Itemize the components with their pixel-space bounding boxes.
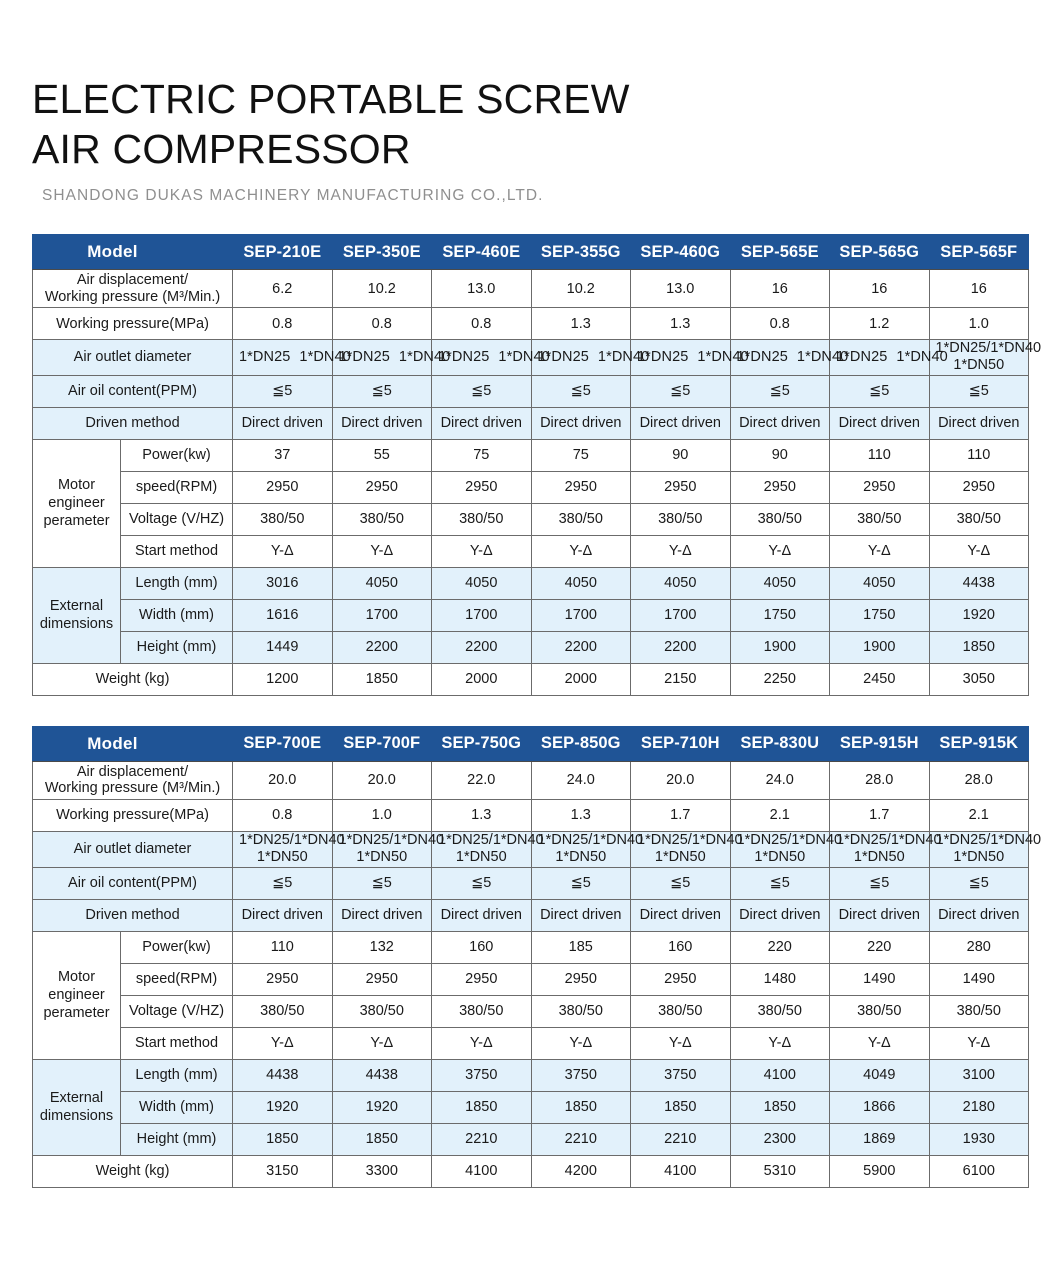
cell-air-oil-content: ≦5 — [631, 867, 731, 899]
cell-air-outlet-diameter: 1*DN25/1*DN401*DN50 — [531, 831, 631, 867]
header-model-SEP-850G: SEP-850G — [531, 726, 631, 761]
cell-start-method: Υ-Δ — [432, 535, 532, 567]
cell-start-method: Υ-Δ — [631, 1027, 731, 1059]
cell-width: 1866 — [830, 1091, 930, 1123]
cell-air-outlet-diameter: 1*DN251*DN40 — [730, 340, 830, 376]
cell-power: 110 — [929, 439, 1029, 471]
row-start-method: Start methodΥ-ΔΥ-ΔΥ-ΔΥ-ΔΥ-ΔΥ-ΔΥ-ΔΥ-Δ — [33, 535, 1029, 567]
cell-driven-method: Direct driven — [531, 407, 631, 439]
cell-speed: 2950 — [432, 963, 532, 995]
cell-driven-method: Direct driven — [432, 407, 532, 439]
cell-air-oil-content: ≦5 — [929, 867, 1029, 899]
row-speed: speed(RPM)295029502950295029501480149014… — [33, 963, 1029, 995]
cell-width: 1616 — [233, 599, 333, 631]
outlet-line-2: 1*DN50 — [936, 849, 1023, 866]
cell-height: 1869 — [830, 1123, 930, 1155]
cell-air-oil-content: ≦5 — [332, 867, 432, 899]
cell-driven-method: Direct driven — [332, 899, 432, 931]
cell-air-displacement: 6.2 — [233, 270, 333, 308]
outlet-line-2: 1*DN50 — [637, 849, 724, 866]
cell-air-displacement: 24.0 — [730, 761, 830, 799]
cell-length: 3100 — [929, 1059, 1029, 1091]
header-model-SEP-700E: SEP-700E — [233, 726, 333, 761]
label-start-method: Start method — [121, 1027, 233, 1059]
cell-weight: 5310 — [730, 1155, 830, 1187]
cell-voltage: 380/50 — [631, 995, 731, 1027]
cell-weight: 4200 — [531, 1155, 631, 1187]
cell-driven-method: Direct driven — [929, 407, 1029, 439]
cell-speed: 1490 — [929, 963, 1029, 995]
row-air-outlet-diameter: Air outlet diameter1*DN251*DN401*DN251*D… — [33, 340, 1029, 376]
cell-power: 160 — [631, 931, 731, 963]
cell-voltage: 380/50 — [730, 503, 830, 535]
cell-height: 2200 — [531, 631, 631, 663]
cell-air-oil-content: ≦5 — [332, 375, 432, 407]
cell-weight: 2000 — [432, 663, 532, 695]
cell-power: 37 — [233, 439, 333, 471]
cell-working-pressure: 1.7 — [830, 799, 930, 831]
row-weight: Weight (kg)31503300410042004100531059006… — [33, 1155, 1029, 1187]
cell-voltage: 380/50 — [432, 503, 532, 535]
cell-voltage: 380/50 — [830, 995, 930, 1027]
cell-working-pressure: 1.0 — [929, 308, 1029, 340]
cell-power: 110 — [830, 439, 930, 471]
cell-voltage: 380/50 — [233, 503, 333, 535]
cell-air-displacement: 28.0 — [830, 761, 930, 799]
label-power: Power(kw) — [121, 439, 233, 471]
cell-voltage: 380/50 — [830, 503, 930, 535]
cell-speed: 2950 — [830, 471, 930, 503]
cell-speed: 2950 — [233, 963, 333, 995]
outlet-line-1: 1*DN25/1*DN40 — [936, 340, 1023, 357]
row-voltage: Voltage (V/HZ)380/50380/50380/50380/5038… — [33, 995, 1029, 1027]
label-voltage: Voltage (V/HZ) — [121, 995, 233, 1027]
cell-height: 1930 — [929, 1123, 1029, 1155]
cell-working-pressure: 1.2 — [830, 308, 930, 340]
cell-length: 3016 — [233, 567, 333, 599]
cell-speed: 2950 — [531, 963, 631, 995]
cell-weight: 4100 — [432, 1155, 532, 1187]
cell-air-displacement: 20.0 — [332, 761, 432, 799]
table-header-row: ModelSEP-700ESEP-700FSEP-750GSEP-850GSEP… — [33, 726, 1029, 761]
cell-width: 1700 — [332, 599, 432, 631]
header-model-SEP-565F: SEP-565F — [929, 235, 1029, 270]
cell-height: 2210 — [531, 1123, 631, 1155]
label-width: Width (mm) — [121, 1091, 233, 1123]
cell-length: 4050 — [531, 567, 631, 599]
cell-working-pressure: 1.3 — [432, 799, 532, 831]
cell-power: 90 — [730, 439, 830, 471]
cell-voltage: 380/50 — [730, 995, 830, 1027]
cell-driven-method: Direct driven — [830, 899, 930, 931]
cell-height: 2200 — [432, 631, 532, 663]
cell-start-method: Υ-Δ — [631, 535, 731, 567]
label-working-pressure: Working pressure(MPa) — [33, 799, 233, 831]
company-subtitle: SHANDONG DUKAS MACHINERY MANUFACTURING C… — [42, 187, 1028, 205]
outlet-line-2: 1*DN50 — [438, 849, 525, 866]
cell-driven-method: Direct driven — [631, 407, 731, 439]
cell-air-oil-content: ≦5 — [830, 375, 930, 407]
header-model-SEP-915K: SEP-915K — [929, 726, 1029, 761]
cell-width: 1700 — [432, 599, 532, 631]
cell-air-outlet-diameter: 1*DN25/1*DN401*DN50 — [332, 831, 432, 867]
header-model-SEP-210E: SEP-210E — [233, 235, 333, 270]
cell-weight: 4100 — [631, 1155, 731, 1187]
cell-power: 220 — [730, 931, 830, 963]
outlet-line-1: 1*DN25/1*DN40 — [339, 832, 426, 849]
label-power: Power(kw) — [121, 931, 233, 963]
cell-driven-method: Direct driven — [631, 899, 731, 931]
cell-working-pressure: 2.1 — [929, 799, 1029, 831]
cell-width: 1920 — [332, 1091, 432, 1123]
cell-working-pressure: 0.8 — [332, 308, 432, 340]
row-weight: Weight (kg)12001850200020002150225024503… — [33, 663, 1029, 695]
cell-voltage: 380/50 — [432, 995, 532, 1027]
cell-driven-method: Direct driven — [432, 899, 532, 931]
cell-weight: 2250 — [730, 663, 830, 695]
cell-start-method: Υ-Δ — [929, 535, 1029, 567]
cell-start-method: Υ-Δ — [730, 1027, 830, 1059]
cell-width: 1850 — [730, 1091, 830, 1123]
cell-air-displacement: 22.0 — [432, 761, 532, 799]
cell-air-oil-content: ≦5 — [233, 375, 333, 407]
header-model-SEP-355G: SEP-355G — [531, 235, 631, 270]
cell-air-outlet-diameter: 1*DN25/1*DN401*DN50 — [929, 831, 1029, 867]
cell-working-pressure: 0.8 — [730, 308, 830, 340]
cell-air-oil-content: ≦5 — [432, 867, 532, 899]
cell-length: 3750 — [631, 1059, 731, 1091]
cell-start-method: Υ-Δ — [730, 535, 830, 567]
cell-length: 4438 — [233, 1059, 333, 1091]
cell-speed: 2950 — [332, 963, 432, 995]
cell-speed: 1480 — [730, 963, 830, 995]
cell-height: 2200 — [631, 631, 731, 663]
label-external-group: External dimensions — [33, 1059, 121, 1155]
cell-working-pressure: 1.0 — [332, 799, 432, 831]
label-width: Width (mm) — [121, 599, 233, 631]
cell-voltage: 380/50 — [631, 503, 731, 535]
header-model-SEP-700F: SEP-700F — [332, 726, 432, 761]
cell-air-oil-content: ≦5 — [929, 375, 1029, 407]
outlet-line-1: 1*DN25/1*DN40 — [239, 832, 326, 849]
outlet-line-1: 1*DN25/1*DN40 — [836, 832, 923, 849]
cell-air-outlet-diameter: 1*DN251*DN40 — [432, 340, 532, 376]
row-air-displacement: Air displacement/Working pressure (M³/Mi… — [33, 270, 1029, 308]
cell-air-displacement: 20.0 — [631, 761, 731, 799]
row-power: Motor engineer perameterPower(kw)3755757… — [33, 439, 1029, 471]
row-start-method: Start methodΥ-ΔΥ-ΔΥ-ΔΥ-ΔΥ-ΔΥ-ΔΥ-ΔΥ-Δ — [33, 1027, 1029, 1059]
label-weight: Weight (kg) — [33, 1155, 233, 1187]
cell-air-outlet-diameter: 1*DN251*DN40 — [631, 340, 731, 376]
header-model-SEP-565G: SEP-565G — [830, 235, 930, 270]
cell-start-method: Υ-Δ — [332, 1027, 432, 1059]
cell-width: 1920 — [233, 1091, 333, 1123]
cell-width: 2180 — [929, 1091, 1029, 1123]
cell-weight: 6100 — [929, 1155, 1029, 1187]
cell-length: 4050 — [830, 567, 930, 599]
label-height: Height (mm) — [121, 1123, 233, 1155]
cell-air-displacement: 10.2 — [531, 270, 631, 308]
label-weight: Weight (kg) — [33, 663, 233, 695]
cell-power: 75 — [531, 439, 631, 471]
label-start-method: Start method — [121, 535, 233, 567]
cell-height: 2210 — [432, 1123, 532, 1155]
cell-voltage: 380/50 — [332, 995, 432, 1027]
cell-power: 110 — [233, 931, 333, 963]
cell-driven-method: Direct driven — [233, 407, 333, 439]
header-model-label: Model — [33, 726, 233, 761]
outlet-line-2: 1*DN50 — [737, 849, 824, 866]
cell-air-displacement: 13.0 — [432, 270, 532, 308]
cell-working-pressure: 1.3 — [531, 308, 631, 340]
cell-height: 1850 — [233, 1123, 333, 1155]
cell-speed: 1490 — [830, 963, 930, 995]
header-model-SEP-460G: SEP-460G — [631, 235, 731, 270]
cell-power: 55 — [332, 439, 432, 471]
header-model-SEP-350E: SEP-350E — [332, 235, 432, 270]
cell-length: 4050 — [432, 567, 532, 599]
label-air-outlet-diameter: Air outlet diameter — [33, 340, 233, 376]
cell-speed: 2950 — [631, 963, 731, 995]
label-air-oil-content: Air oil content(PPM) — [33, 867, 233, 899]
cell-width: 1750 — [830, 599, 930, 631]
label-speed: speed(RPM) — [121, 471, 233, 503]
row-driven-method: Driven methodDirect drivenDirect drivenD… — [33, 407, 1029, 439]
cell-length: 4050 — [631, 567, 731, 599]
outlet-line-2: 1*DN50 — [836, 849, 923, 866]
cell-height: 2200 — [332, 631, 432, 663]
cell-air-oil-content: ≦5 — [233, 867, 333, 899]
header-model-SEP-710H: SEP-710H — [631, 726, 731, 761]
label-air-displacement: Air displacement/Working pressure (M³/Mi… — [33, 761, 233, 799]
cell-start-method: Υ-Δ — [432, 1027, 532, 1059]
label-working-pressure: Working pressure(MPa) — [33, 308, 233, 340]
cell-air-oil-content: ≦5 — [531, 375, 631, 407]
cell-voltage: 380/50 — [929, 503, 1029, 535]
cell-air-displacement: 13.0 — [631, 270, 731, 308]
cell-driven-method: Direct driven — [233, 899, 333, 931]
row-width: Width (mm)192019201850185018501850186621… — [33, 1091, 1029, 1123]
cell-air-displacement: 16 — [830, 270, 930, 308]
cell-speed: 2950 — [432, 471, 532, 503]
outlet-line-2: 1*DN50 — [936, 357, 1023, 374]
row-speed: speed(RPM)295029502950295029502950295029… — [33, 471, 1029, 503]
cell-height: 2210 — [631, 1123, 731, 1155]
cell-voltage: 380/50 — [233, 995, 333, 1027]
label-height: Height (mm) — [121, 631, 233, 663]
cell-weight: 3300 — [332, 1155, 432, 1187]
row-driven-method: Driven methodDirect drivenDirect drivenD… — [33, 899, 1029, 931]
label-external-group: External dimensions — [33, 567, 121, 663]
cell-air-oil-content: ≦5 — [432, 375, 532, 407]
row-length: External dimensionsLength (mm)4438443837… — [33, 1059, 1029, 1091]
cell-start-method: Υ-Δ — [332, 535, 432, 567]
header-model-SEP-750G: SEP-750G — [432, 726, 532, 761]
cell-weight: 2000 — [531, 663, 631, 695]
cell-power: 280 — [929, 931, 1029, 963]
outlet-line-2: 1*DN50 — [239, 849, 326, 866]
cell-speed: 2950 — [730, 471, 830, 503]
cell-length: 4050 — [730, 567, 830, 599]
row-working-pressure: Working pressure(MPa)0.80.80.81.31.30.81… — [33, 308, 1029, 340]
cell-height: 2300 — [730, 1123, 830, 1155]
label-motor-group: Motor engineer perameter — [33, 439, 121, 567]
cell-driven-method: Direct driven — [730, 899, 830, 931]
cell-width: 1850 — [531, 1091, 631, 1123]
cell-air-oil-content: ≦5 — [730, 867, 830, 899]
row-voltage: Voltage (V/HZ)380/50380/50380/50380/5038… — [33, 503, 1029, 535]
cell-length: 4438 — [929, 567, 1029, 599]
outlet-line-2: 1*DN50 — [538, 849, 625, 866]
cell-start-method: Υ-Δ — [830, 1027, 930, 1059]
cell-air-outlet-diameter: 1*DN251*DN40 — [332, 340, 432, 376]
cell-air-displacement: 10.2 — [332, 270, 432, 308]
cell-air-displacement: 24.0 — [531, 761, 631, 799]
cell-power: 132 — [332, 931, 432, 963]
title-block: ELECTRIC PORTABLE SCREW AIR COMPRESSOR S… — [32, 0, 1028, 205]
spec-tables-container: ModelSEP-210ESEP-350ESEP-460ESEP-355GSEP… — [32, 234, 1028, 1188]
header-model-SEP-460E: SEP-460E — [432, 235, 532, 270]
cell-height: 1449 — [233, 631, 333, 663]
cell-working-pressure: 1.7 — [631, 799, 731, 831]
cell-start-method: Υ-Δ — [830, 535, 930, 567]
label-air-displacement: Air displacement/Working pressure (M³/Mi… — [33, 270, 233, 308]
cell-working-pressure: 0.8 — [432, 308, 532, 340]
table-header-row: ModelSEP-210ESEP-350ESEP-460ESEP-355GSEP… — [33, 235, 1029, 270]
cell-voltage: 380/50 — [929, 995, 1029, 1027]
row-air-outlet-diameter: Air outlet diameter1*DN25/1*DN401*DN501*… — [33, 831, 1029, 867]
cell-start-method: Υ-Δ — [531, 1027, 631, 1059]
cell-driven-method: Direct driven — [929, 899, 1029, 931]
cell-length: 4100 — [730, 1059, 830, 1091]
cell-start-method: Υ-Δ — [929, 1027, 1029, 1059]
cell-weight: 2450 — [830, 663, 930, 695]
cell-length: 3750 — [531, 1059, 631, 1091]
cell-width: 1700 — [631, 599, 731, 631]
label-length: Length (mm) — [121, 1059, 233, 1091]
header-model-SEP-830U: SEP-830U — [730, 726, 830, 761]
row-length: External dimensionsLength (mm)3016405040… — [33, 567, 1029, 599]
label-air-outlet-diameter: Air outlet diameter — [33, 831, 233, 867]
row-air-displacement: Air displacement/Working pressure (M³/Mi… — [33, 761, 1029, 799]
cell-air-displacement: 16 — [730, 270, 830, 308]
cell-driven-method: Direct driven — [332, 407, 432, 439]
label-air-oil-content: Air oil content(PPM) — [33, 375, 233, 407]
cell-length: 4050 — [332, 567, 432, 599]
cell-air-oil-content: ≦5 — [830, 867, 930, 899]
cell-driven-method: Direct driven — [830, 407, 930, 439]
label-driven-method: Driven method — [33, 407, 233, 439]
cell-air-outlet-diameter: 1*DN25/1*DN401*DN50 — [830, 831, 930, 867]
cell-speed: 2950 — [929, 471, 1029, 503]
cell-width: 1850 — [432, 1091, 532, 1123]
cell-driven-method: Direct driven — [730, 407, 830, 439]
cell-air-displacement: 28.0 — [929, 761, 1029, 799]
cell-speed: 2950 — [332, 471, 432, 503]
outlet-line-2: 1*DN50 — [339, 849, 426, 866]
cell-height: 1850 — [929, 631, 1029, 663]
cell-speed: 2950 — [233, 471, 333, 503]
cell-power: 75 — [432, 439, 532, 471]
cell-power: 185 — [531, 931, 631, 963]
cell-width: 1850 — [631, 1091, 731, 1123]
row-working-pressure: Working pressure(MPa)0.81.01.31.31.72.11… — [33, 799, 1029, 831]
row-width: Width (mm)161617001700170017001750175019… — [33, 599, 1029, 631]
label-driven-method: Driven method — [33, 899, 233, 931]
cell-speed: 2950 — [531, 471, 631, 503]
row-air-oil-content: Air oil content(PPM)≦5≦5≦5≦5≦5≦5≦5≦5 — [33, 375, 1029, 407]
outlet-line-1: 1*DN25/1*DN40 — [438, 832, 525, 849]
cell-driven-method: Direct driven — [531, 899, 631, 931]
cell-height: 1900 — [730, 631, 830, 663]
label-voltage: Voltage (V/HZ) — [121, 503, 233, 535]
cell-weight: 2150 — [631, 663, 731, 695]
cell-working-pressure: 0.8 — [233, 308, 333, 340]
cell-width: 1920 — [929, 599, 1029, 631]
cell-working-pressure: 1.3 — [631, 308, 731, 340]
cell-air-outlet-diameter: 1*DN25/1*DN401*DN50 — [432, 831, 532, 867]
cell-voltage: 380/50 — [531, 995, 631, 1027]
cell-air-oil-content: ≦5 — [631, 375, 731, 407]
label-motor-group: Motor engineer perameter — [33, 931, 121, 1059]
spec-sheet-page: ELECTRIC PORTABLE SCREW AIR COMPRESSOR S… — [0, 0, 1060, 1284]
outlet-line-1: 1*DN25/1*DN40 — [936, 832, 1023, 849]
cell-length: 4049 — [830, 1059, 930, 1091]
cell-width: 1750 — [730, 599, 830, 631]
cell-air-oil-content: ≦5 — [531, 867, 631, 899]
cell-air-oil-content: ≦5 — [730, 375, 830, 407]
cell-air-outlet-diameter: 1*DN25/1*DN401*DN50 — [631, 831, 731, 867]
outlet-line-1: 1*DN25/1*DN40 — [538, 832, 625, 849]
cell-speed: 2950 — [631, 471, 731, 503]
cell-weight: 3050 — [929, 663, 1029, 695]
cell-power: 160 — [432, 931, 532, 963]
cell-height: 1900 — [830, 631, 930, 663]
row-height: Height (mm)14492200220022002200190019001… — [33, 631, 1029, 663]
cell-air-displacement: 16 — [929, 270, 1029, 308]
cell-power: 220 — [830, 931, 930, 963]
cell-start-method: Υ-Δ — [531, 535, 631, 567]
cell-power: 90 — [631, 439, 731, 471]
cell-working-pressure: 2.1 — [730, 799, 830, 831]
cell-working-pressure: 0.8 — [233, 799, 333, 831]
spec-table-2: ModelSEP-700ESEP-700FSEP-750GSEP-850GSEP… — [32, 726, 1029, 1188]
cell-width: 1700 — [531, 599, 631, 631]
cell-height: 1850 — [332, 1123, 432, 1155]
cell-start-method: Υ-Δ — [233, 535, 333, 567]
cell-voltage: 380/50 — [332, 503, 432, 535]
cell-length: 4438 — [332, 1059, 432, 1091]
header-model-SEP-565E: SEP-565E — [730, 235, 830, 270]
cell-weight: 5900 — [830, 1155, 930, 1187]
cell-start-method: Υ-Δ — [233, 1027, 333, 1059]
cell-voltage: 380/50 — [531, 503, 631, 535]
row-power: Motor engineer perameterPower(kw)1101321… — [33, 931, 1029, 963]
cell-air-outlet-diameter: 1*DN251*DN40 — [830, 340, 930, 376]
outlet-line-1: 1*DN25/1*DN40 — [637, 832, 724, 849]
cell-working-pressure: 1.3 — [531, 799, 631, 831]
cell-air-outlet-diameter: 1*DN251*DN40 — [531, 340, 631, 376]
outlet-line-1: 1*DN25/1*DN40 — [737, 832, 824, 849]
cell-length: 3750 — [432, 1059, 532, 1091]
row-height: Height (mm)18501850221022102210230018691… — [33, 1123, 1029, 1155]
cell-air-outlet-diameter: 1*DN25/1*DN401*DN50 — [730, 831, 830, 867]
header-model-SEP-915H: SEP-915H — [830, 726, 930, 761]
label-speed: speed(RPM) — [121, 963, 233, 995]
cell-weight: 1850 — [332, 663, 432, 695]
header-model-label: Model — [33, 235, 233, 270]
spec-table-1: ModelSEP-210ESEP-350ESEP-460ESEP-355GSEP… — [32, 234, 1029, 696]
